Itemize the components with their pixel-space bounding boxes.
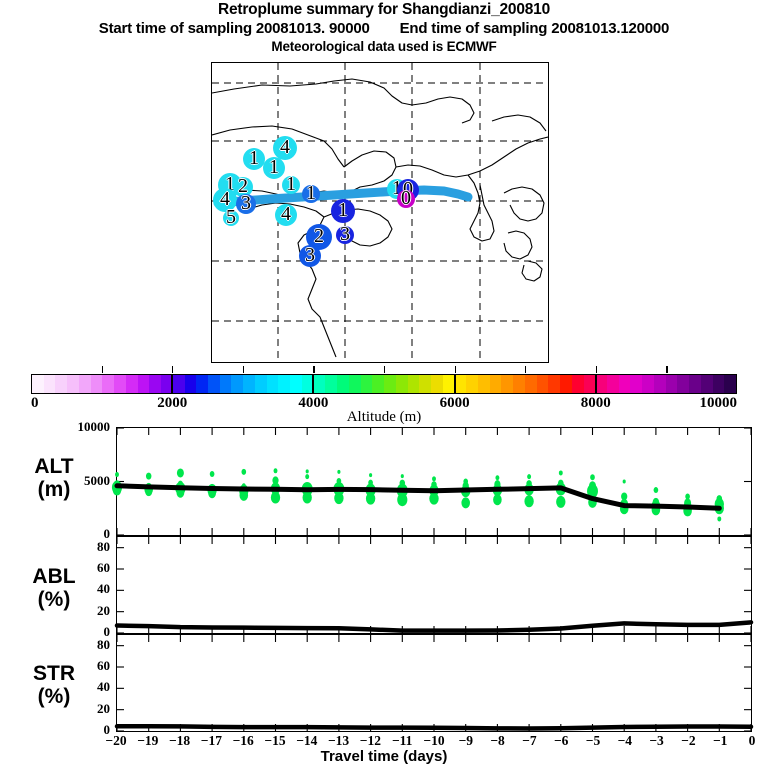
x-tick-label: −14 bbox=[291, 733, 323, 749]
colorbar-swatch bbox=[595, 375, 607, 393]
alt-cluster-dot bbox=[241, 469, 246, 475]
alt-cluster-dot bbox=[369, 473, 372, 477]
colorbar-swatch bbox=[314, 375, 326, 393]
map-graphics bbox=[212, 63, 548, 362]
x-tick-label: −18 bbox=[164, 733, 196, 749]
alt-plot-graphics bbox=[117, 428, 751, 535]
alt-cluster-dot bbox=[177, 468, 184, 477]
colorbar-swatch bbox=[724, 375, 736, 393]
colorbar-swatch bbox=[243, 375, 255, 393]
alt-cluster-dot bbox=[146, 473, 151, 480]
colorbar-swatch bbox=[149, 375, 161, 393]
colorbar-minor-tick bbox=[102, 366, 103, 373]
x-tick-label: −15 bbox=[259, 733, 291, 749]
colorbar-swatch bbox=[349, 375, 361, 393]
x-tick-label: −1 bbox=[704, 733, 736, 749]
map-cluster-label: 0 bbox=[401, 188, 411, 208]
colorbar-swatch bbox=[560, 375, 572, 393]
alt-cluster-dot bbox=[366, 493, 375, 505]
colorbar-swatch bbox=[208, 375, 220, 393]
alt-cluster-dot bbox=[274, 468, 278, 473]
colorbar-swatch bbox=[501, 375, 513, 393]
alt-cluster-dot bbox=[397, 493, 407, 506]
y-tick-label: 20 bbox=[97, 701, 110, 717]
abl-label-line2: (%) bbox=[6, 588, 102, 611]
map-graticule bbox=[212, 63, 548, 362]
colorbar-minor-tick bbox=[172, 366, 173, 373]
x-tick-label: −12 bbox=[354, 733, 386, 749]
y-tick-label: 80 bbox=[97, 539, 110, 555]
alt-cluster-dot bbox=[461, 497, 470, 508]
map-cluster-label: 4 bbox=[280, 137, 290, 157]
colorbar-swatch bbox=[173, 375, 185, 393]
map-cluster-label: 1 bbox=[338, 200, 348, 220]
sampling-time-line: Start time of sampling 20081013. 90000 E… bbox=[0, 19, 768, 38]
colorbar-swatch bbox=[525, 375, 537, 393]
alt-cluster-dot bbox=[240, 490, 249, 501]
colorbar-swatch bbox=[607, 375, 619, 393]
str-row-label: STR (%) bbox=[6, 662, 102, 708]
page-title: Retroplume summary for Shangdianzi_20081… bbox=[0, 0, 768, 19]
colorbar-divider bbox=[171, 374, 173, 394]
str-plot-graphics bbox=[117, 635, 751, 731]
colorbar-swatch bbox=[361, 375, 373, 393]
alt-mean-line bbox=[117, 486, 719, 508]
colorbar-swatch bbox=[44, 375, 56, 393]
colorbar-minor-tick bbox=[596, 366, 597, 373]
y-tick-label: 5000 bbox=[84, 473, 110, 489]
str-label-line1: STR bbox=[6, 662, 102, 685]
alt-cluster-dot bbox=[401, 474, 404, 478]
alt-cluster-dot bbox=[559, 470, 563, 475]
x-tick-label: −9 bbox=[450, 733, 482, 749]
colorbar-swatch bbox=[267, 375, 279, 393]
colorbar-swatch bbox=[630, 375, 642, 393]
colorbar-swatch bbox=[419, 375, 431, 393]
colorbar-swatch bbox=[548, 375, 560, 393]
colorbar-minor-tick bbox=[455, 366, 456, 373]
colorbar-swatch bbox=[466, 375, 478, 393]
colorbar-swatch bbox=[513, 375, 525, 393]
colorbar-swatch bbox=[91, 375, 103, 393]
alt-cluster-dot bbox=[623, 480, 626, 484]
x-tick-label: −20 bbox=[100, 733, 132, 749]
colorbar-swatch bbox=[490, 375, 502, 393]
colorbar-swatch bbox=[102, 375, 114, 393]
colorbar-swatch bbox=[337, 375, 349, 393]
alt-cluster-dot bbox=[305, 474, 309, 479]
colorbar-swatch bbox=[384, 375, 396, 393]
x-tick-label: −2 bbox=[672, 733, 704, 749]
colorbar-swatch bbox=[325, 375, 337, 393]
y-tick-label: 60 bbox=[97, 560, 110, 576]
str-line bbox=[117, 726, 751, 728]
alt-cluster-dot bbox=[654, 487, 659, 493]
x-tick-label: −17 bbox=[195, 733, 227, 749]
colorbar-swatch bbox=[478, 375, 490, 393]
alt-cluster-dot bbox=[115, 472, 119, 477]
colorbar-swatch bbox=[642, 375, 654, 393]
x-tick-label: −10 bbox=[418, 733, 450, 749]
alt-cluster-dot bbox=[527, 474, 531, 479]
colorbar-swatch bbox=[372, 375, 384, 393]
colorbar-swatch bbox=[701, 375, 713, 393]
alt-cluster-dot bbox=[210, 471, 215, 477]
colorbar-swatch bbox=[55, 375, 67, 393]
colorbar-minor-tick bbox=[243, 366, 244, 373]
start-time-label: Start time of sampling 20081013. 90000 bbox=[99, 20, 370, 37]
alt-cluster-dot bbox=[590, 474, 595, 480]
x-tick-label: −13 bbox=[323, 733, 355, 749]
x-axis-title: Travel time (days) bbox=[0, 748, 768, 765]
x-tick-label: −5 bbox=[577, 733, 609, 749]
colorbar-swatch bbox=[138, 375, 150, 393]
alt-cluster-dot bbox=[429, 493, 438, 505]
colorbar-swatch bbox=[666, 375, 678, 393]
coastline-paths bbox=[212, 79, 548, 357]
colorbar-divider bbox=[454, 374, 456, 394]
str-panel[interactable] bbox=[116, 634, 752, 732]
alt-cluster-dot bbox=[271, 492, 280, 504]
map-cluster-label: 5 bbox=[226, 207, 236, 227]
colorbar-swatch bbox=[677, 375, 689, 393]
alt-cluster-dot bbox=[306, 469, 309, 473]
colorbar-swatch bbox=[185, 375, 197, 393]
colorbar-swatch bbox=[220, 375, 232, 393]
alt-cluster-dot bbox=[717, 516, 721, 521]
colorbar-swatch bbox=[32, 375, 44, 393]
x-tick-label: −11 bbox=[386, 733, 418, 749]
alt-cluster-dot bbox=[303, 492, 312, 504]
colorbar-swatch bbox=[654, 375, 666, 393]
map-cluster-label: 1 bbox=[249, 148, 259, 168]
alt-cluster-dot bbox=[495, 475, 499, 480]
abl-label-line1: ABL bbox=[6, 565, 102, 588]
colorbar-divider bbox=[312, 374, 314, 394]
map-cluster-label: 4 bbox=[281, 204, 291, 224]
colorbar-swatch bbox=[537, 375, 549, 393]
colorbar-swatch bbox=[619, 375, 631, 393]
colorbar-minor-tick bbox=[525, 366, 526, 373]
altitude-colorbar bbox=[31, 374, 737, 394]
colorbar-swatch bbox=[196, 375, 208, 393]
str-label-line2: (%) bbox=[6, 685, 102, 708]
y-tick-label: 10000 bbox=[78, 419, 111, 435]
map-cluster-label: 3 bbox=[241, 193, 251, 213]
colorbar-swatch bbox=[114, 375, 126, 393]
y-tick-label: 80 bbox=[97, 637, 110, 653]
alt-panel[interactable] bbox=[116, 427, 752, 536]
map-cluster-label: 1 bbox=[269, 157, 279, 177]
colorbar-swatch bbox=[454, 375, 466, 393]
colorbar-swatch bbox=[255, 375, 267, 393]
colorbar-swatch bbox=[689, 375, 701, 393]
met-data-label: Meteorological data used is ECMWF bbox=[0, 38, 768, 55]
abl-plot-graphics bbox=[117, 537, 751, 633]
map-cluster-label: 2 bbox=[314, 226, 324, 246]
colorbar-minor-tick bbox=[384, 366, 385, 373]
colorbar-swatch bbox=[278, 375, 290, 393]
alt-cluster-dot bbox=[556, 496, 565, 508]
x-tick-label: 0 bbox=[736, 733, 768, 749]
colorbar-swatch bbox=[713, 375, 725, 393]
colorbar-minor-tick bbox=[666, 366, 667, 373]
alt-cluster-dot bbox=[334, 492, 343, 504]
colorbar-swatch bbox=[396, 375, 408, 393]
alt-cluster-dot bbox=[337, 470, 340, 474]
colorbar-swatch bbox=[584, 375, 596, 393]
colorbar-swatch bbox=[126, 375, 138, 393]
x-tick-label: −3 bbox=[641, 733, 673, 749]
x-tick-label: −4 bbox=[609, 733, 641, 749]
y-tick-label: 60 bbox=[97, 658, 110, 674]
colorbar-swatch bbox=[431, 375, 443, 393]
colorbar-swatch bbox=[79, 375, 91, 393]
x-tick-label: −6 bbox=[545, 733, 577, 749]
retroplume-map[interactable]: 411112435411323100 bbox=[211, 62, 549, 363]
alt-cluster-dot bbox=[524, 495, 533, 507]
colorbar-swatch bbox=[572, 375, 584, 393]
abl-panel[interactable] bbox=[116, 536, 752, 634]
map-cluster-label: 3 bbox=[305, 245, 315, 265]
colorbar-minor-tick bbox=[313, 366, 314, 373]
abl-row-label: ABL (%) bbox=[6, 565, 102, 611]
title-block: Retroplume summary for Shangdianzi_20081… bbox=[0, 0, 768, 55]
x-tick-label: −16 bbox=[227, 733, 259, 749]
colorbar-swatch bbox=[67, 375, 79, 393]
map-cluster-label: 1 bbox=[286, 174, 296, 194]
end-time-label: End time of sampling 20081013.120000 bbox=[400, 20, 670, 37]
map-cluster-label: 1 bbox=[306, 183, 316, 203]
y-tick-label: 40 bbox=[97, 679, 110, 695]
x-tick-label: −19 bbox=[132, 733, 164, 749]
colorbar-title: Altitude (m) bbox=[0, 409, 768, 426]
x-tick-label: −8 bbox=[482, 733, 514, 749]
y-tick-label: 20 bbox=[97, 603, 110, 619]
colorbar-divider bbox=[595, 374, 597, 394]
y-tick-label: 40 bbox=[97, 581, 110, 597]
alt-cluster-dot bbox=[493, 494, 502, 505]
alt-cluster-dot bbox=[432, 476, 436, 481]
colorbar-swatch bbox=[231, 375, 243, 393]
map-cluster-label: 3 bbox=[340, 224, 350, 244]
x-tick-label: −7 bbox=[513, 733, 545, 749]
colorbar-swatch bbox=[290, 375, 302, 393]
colorbar-swatch bbox=[408, 375, 420, 393]
